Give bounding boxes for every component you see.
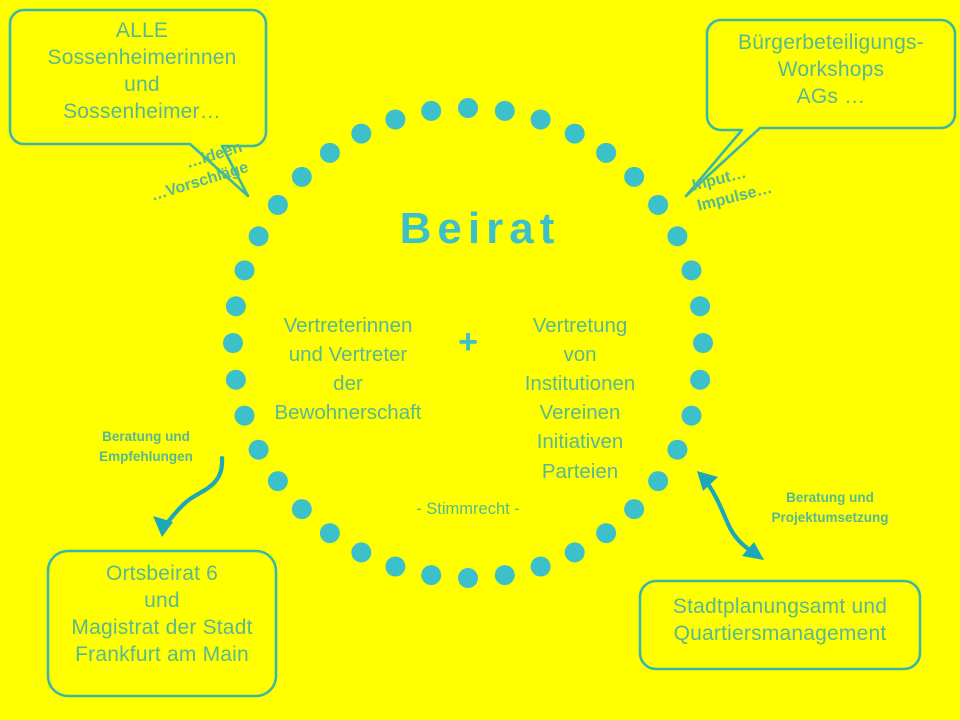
- bubble-top-left-label: ALLE Sossenheimerinnen und Sossenheimer…: [20, 18, 264, 126]
- ring-dot: [682, 260, 702, 280]
- ring-dot: [596, 143, 616, 163]
- box-bottom-left-label: Ortsbeirat 6 und Magistrat der Stadt Fra…: [50, 561, 274, 669]
- arrow-right-caption: Beratung und Projektumsetzung: [740, 488, 920, 527]
- ring-dot: [531, 110, 551, 130]
- ring-dot: [385, 557, 405, 577]
- arrow-left-curved: [153, 458, 222, 537]
- ring-dot: [351, 124, 371, 144]
- ring-dot: [682, 406, 702, 426]
- plus-icon: +: [440, 325, 496, 359]
- ring-dot: [320, 143, 340, 163]
- arrow-left-caption: Beratung und Empfehlungen: [70, 427, 222, 466]
- ring-dot: [596, 523, 616, 543]
- ring-dot: [226, 296, 246, 316]
- bubble-top-left-caption: …Ideen …Vorschläge: [124, 137, 251, 212]
- diagram-canvas: ALLE Sossenheimerinnen und Sossenheimer……: [0, 0, 960, 720]
- bubble-top-right-label: Bürgerbeteiligungs- Workshops AGs …: [712, 30, 950, 111]
- ring-dot: [226, 370, 246, 390]
- ring-dot: [495, 565, 515, 585]
- ring-dot: [624, 499, 644, 519]
- ring-dot: [667, 440, 687, 460]
- ring-dot: [690, 296, 710, 316]
- ring-dot: [458, 98, 478, 118]
- ring-dot: [690, 370, 710, 390]
- ring-dot: [223, 333, 243, 353]
- box-bottom-right-label: Stadtplanungsamt und Quartiersmanagement: [644, 594, 916, 648]
- ring-dot: [565, 124, 585, 144]
- ring-dot: [624, 167, 644, 187]
- ring-dot: [531, 557, 551, 577]
- ring-dot: [495, 101, 515, 121]
- ring-dot: [385, 110, 405, 130]
- ring-dot: [565, 542, 585, 562]
- ring-dot: [268, 471, 288, 491]
- ring-dot: [458, 568, 478, 588]
- ring-dot: [292, 499, 312, 519]
- ring-dot: [235, 260, 255, 280]
- center-column-right: Vertretung von Institutionen Vereinen In…: [500, 311, 660, 486]
- ring-dot: [292, 167, 312, 187]
- page-title: Beirat: [0, 204, 960, 254]
- ring-dot: [320, 523, 340, 543]
- ring-dot: [249, 440, 269, 460]
- ring-dot: [421, 101, 441, 121]
- center-footnote: - Stimmrecht -: [348, 500, 588, 519]
- center-column-left: Vertreterinnen und Vertreter der Bewohne…: [268, 311, 428, 427]
- ring-dot: [235, 406, 255, 426]
- ring-dot: [421, 565, 441, 585]
- ring-dot: [351, 542, 371, 562]
- ring-dot: [693, 333, 713, 353]
